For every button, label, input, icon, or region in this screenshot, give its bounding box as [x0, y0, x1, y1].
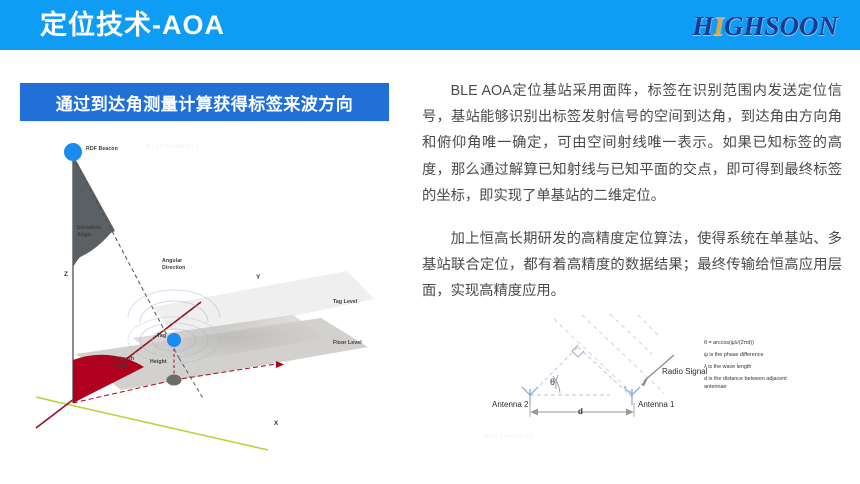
- antenna-1-label: Antenna 1: [638, 400, 674, 409]
- height-label: Height: [150, 359, 167, 366]
- antenna-2-label: Antenna 2: [492, 400, 528, 409]
- radio-signal-arrow-head: [641, 376, 649, 386]
- legend-wave-length: λ is the wave length: [704, 363, 796, 371]
- brand-logo: HIGHSOON: [692, 11, 838, 42]
- logo-part-1: H: [692, 11, 713, 41]
- distance-d-label: d: [578, 407, 583, 416]
- theta-symbol: θ: [550, 377, 555, 387]
- x-axis-label: X: [274, 420, 278, 427]
- x-axis-line: [57, 402, 268, 450]
- floor-level-label: Floor Level: [333, 340, 362, 347]
- slide: 定位技术-AOA HIGHSOON 通过到达角测量计算获得标签来波方向 BLE …: [0, 0, 860, 484]
- page-title: 定位技术-AOA: [40, 9, 225, 41]
- slide-header-bar: 定位技术-AOA HIGHSOON: [0, 0, 860, 50]
- distance-arrow-left: [530, 409, 538, 416]
- elevation-angle-label: Elevation Angle: [77, 225, 101, 238]
- section-heading-box: 通过到达角测量计算获得标签来波方向: [20, 83, 389, 121]
- right-angle-marker: [572, 351, 584, 357]
- azimuth-angle-label: Azimuth Angle: [113, 356, 134, 369]
- tag-label: Tag: [157, 333, 166, 340]
- legend-distance: d is the distance between adjacent anten…: [704, 375, 796, 392]
- y-axis-label: Y: [256, 274, 260, 281]
- aoa-3d-diagram: RDF Beacon Elevation Angle Angular Direc…: [16, 132, 416, 462]
- radio-signal-label: Radio Signal: [662, 367, 707, 376]
- antenna-phase-diagram: θ Antenna 2 Antenna 1 Radio Signal d θ =…: [492, 297, 858, 457]
- antenna-phase-diagram-svg: [492, 297, 858, 457]
- aoa-3d-diagram-svg: [16, 132, 416, 462]
- antenna-diagram-watermark: 点击此处添加文字内容: [484, 434, 534, 440]
- body-paragraph-1: BLE AOA定位基站采用面阵，标签在识别范围内发送定位信号，基站能够识别出标签…: [422, 78, 842, 209]
- rdf-beacon-dot: [64, 143, 82, 161]
- legend-phase-difference: ψ is the phase difference: [704, 351, 796, 359]
- tag-level-label: Tag Level: [333, 299, 357, 306]
- body-text-block: BLE AOA定位基站采用面阵，标签在识别范围内发送定位信号，基站能够识别出标签…: [422, 78, 842, 305]
- x-axis-line-left: [36, 397, 57, 402]
- floor-projection-dot: [167, 375, 182, 386]
- elevation-angle-wedge-fill: [73, 155, 114, 260]
- angular-direction-label: Angular Direction: [162, 258, 185, 271]
- logo-part-2: GHSOON: [724, 11, 838, 41]
- tag-dot: [167, 333, 181, 347]
- section-heading-label: 通过到达角测量计算获得标签来波方向: [20, 83, 389, 121]
- phase-formula-block: θ = arccos(ψλ/(2πd)) ψ is the phase diff…: [704, 339, 796, 395]
- distance-arrow-right: [626, 409, 634, 416]
- rdf-beacon-label: RDF Beacon: [86, 146, 118, 153]
- body-paragraph-2: 加上恒高长期研发的高精度定位算法，使得系统在单基站、多基站联合定位，都有着高精度…: [422, 226, 842, 305]
- logo-accent-letter: I: [713, 11, 724, 41]
- phase-formula: θ = arccos(ψλ/(2πd)): [704, 339, 796, 347]
- diagram-watermark-top: 点击此处添加副标题内容: [145, 144, 200, 150]
- z-axis-label: Z: [64, 271, 68, 278]
